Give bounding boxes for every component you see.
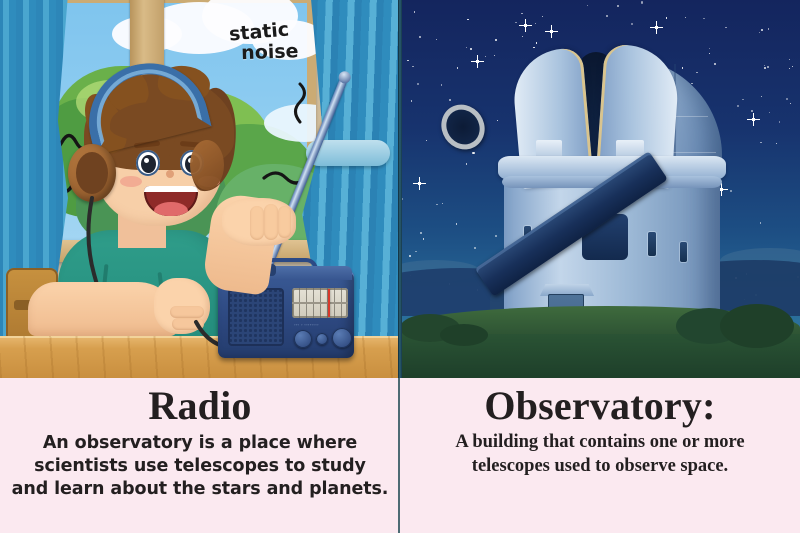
sparkle-star	[418, 182, 421, 185]
star	[725, 27, 726, 28]
star	[641, 1, 643, 3]
star	[417, 83, 419, 85]
volume-knob[interactable]	[294, 330, 312, 348]
star	[685, 17, 686, 18]
star	[420, 232, 422, 234]
star	[606, 15, 607, 16]
right-caption-title: Observatory:	[400, 378, 800, 428]
star	[631, 23, 633, 25]
left-caption: Radio An observatory is a place where sc…	[0, 378, 400, 533]
bush	[720, 304, 794, 348]
sparkle-star	[476, 60, 479, 63]
star	[466, 47, 467, 48]
star	[470, 48, 472, 50]
telescope-tube	[475, 151, 668, 297]
star	[542, 16, 543, 17]
telescope	[432, 64, 682, 294]
sparkle-star	[524, 24, 527, 27]
night-sky	[400, 0, 800, 378]
bush	[440, 324, 488, 346]
star	[786, 98, 788, 100]
star	[587, 5, 588, 6]
star	[423, 238, 424, 239]
star	[426, 140, 427, 141]
star	[769, 112, 770, 113]
star	[495, 39, 497, 41]
star	[768, 28, 769, 29]
tuning-needle	[328, 289, 330, 317]
star	[759, 32, 760, 33]
caption-line: and learn about the stars and planets.	[10, 478, 390, 501]
left-caption-title: Radio	[0, 378, 400, 428]
telescope-lens	[433, 96, 494, 158]
caption-line: A building that contains one or more	[410, 430, 790, 454]
star	[760, 142, 761, 143]
caption-line: telescopes used to observe space.	[410, 454, 790, 478]
right-panel: Observatory: A building that contains on…	[400, 0, 800, 533]
star	[467, 19, 468, 20]
left-caption-body: An observatory is a place where scientis…	[0, 432, 400, 501]
observatory-scene-illustration	[400, 0, 800, 378]
star	[742, 99, 743, 100]
sparkle-star	[550, 30, 553, 33]
star	[761, 29, 762, 30]
star	[779, 121, 780, 122]
dial-midline	[292, 302, 348, 304]
caption-divider	[397, 378, 402, 533]
star	[617, 5, 619, 7]
star	[767, 66, 768, 67]
annotation-line-2: noise	[219, 40, 322, 65]
comparison-figure: ◦◦◦ ◦ ◦◦◦◦◦◦◦◦ static noise Radio	[0, 0, 800, 533]
tuning-knob[interactable]	[332, 328, 352, 348]
star	[666, 17, 667, 18]
star	[703, 18, 704, 19]
radio-brand-text: ◦◦◦ ◦ ◦◦◦◦◦◦◦◦	[294, 322, 350, 327]
star	[412, 66, 413, 67]
caption-line: An observatory is a place where	[10, 432, 390, 455]
star	[760, 222, 761, 223]
star	[792, 66, 793, 67]
star	[515, 22, 516, 23]
star	[436, 39, 437, 40]
star	[776, 143, 777, 144]
room-background: ◦◦◦ ◦ ◦◦◦◦◦◦◦◦ static noise	[0, 0, 400, 378]
observatory-building	[482, 44, 740, 342]
star	[789, 68, 790, 69]
finger	[278, 206, 291, 238]
left-panel: ◦◦◦ ◦ ◦◦◦◦◦◦◦◦ static noise Radio	[0, 0, 400, 533]
star	[789, 59, 790, 60]
star	[414, 11, 415, 12]
star	[522, 36, 523, 37]
sparkle-star	[655, 26, 658, 29]
right-caption-body: A building that contains one or more tel…	[400, 430, 800, 478]
tuning-dial[interactable]	[292, 288, 348, 318]
star	[535, 23, 536, 24]
right-caption: Observatory: A building that contains on…	[400, 378, 800, 533]
radio-scene-illustration: ◦◦◦ ◦ ◦◦◦◦◦◦◦◦ static noise	[0, 0, 400, 378]
small-knob[interactable]	[316, 333, 328, 345]
finger	[264, 204, 278, 240]
finger	[250, 206, 264, 240]
speaker-grille	[228, 288, 284, 346]
star	[407, 60, 408, 61]
star	[419, 36, 421, 38]
star	[764, 67, 766, 69]
static-noise-annotation: static noise	[198, 17, 321, 69]
star	[761, 96, 762, 97]
star	[521, 13, 522, 14]
caption-line: scientists use telescopes to study	[10, 455, 390, 478]
sparkle-star	[752, 118, 755, 121]
star	[751, 110, 753, 112]
star	[790, 103, 791, 104]
star	[411, 100, 412, 101]
